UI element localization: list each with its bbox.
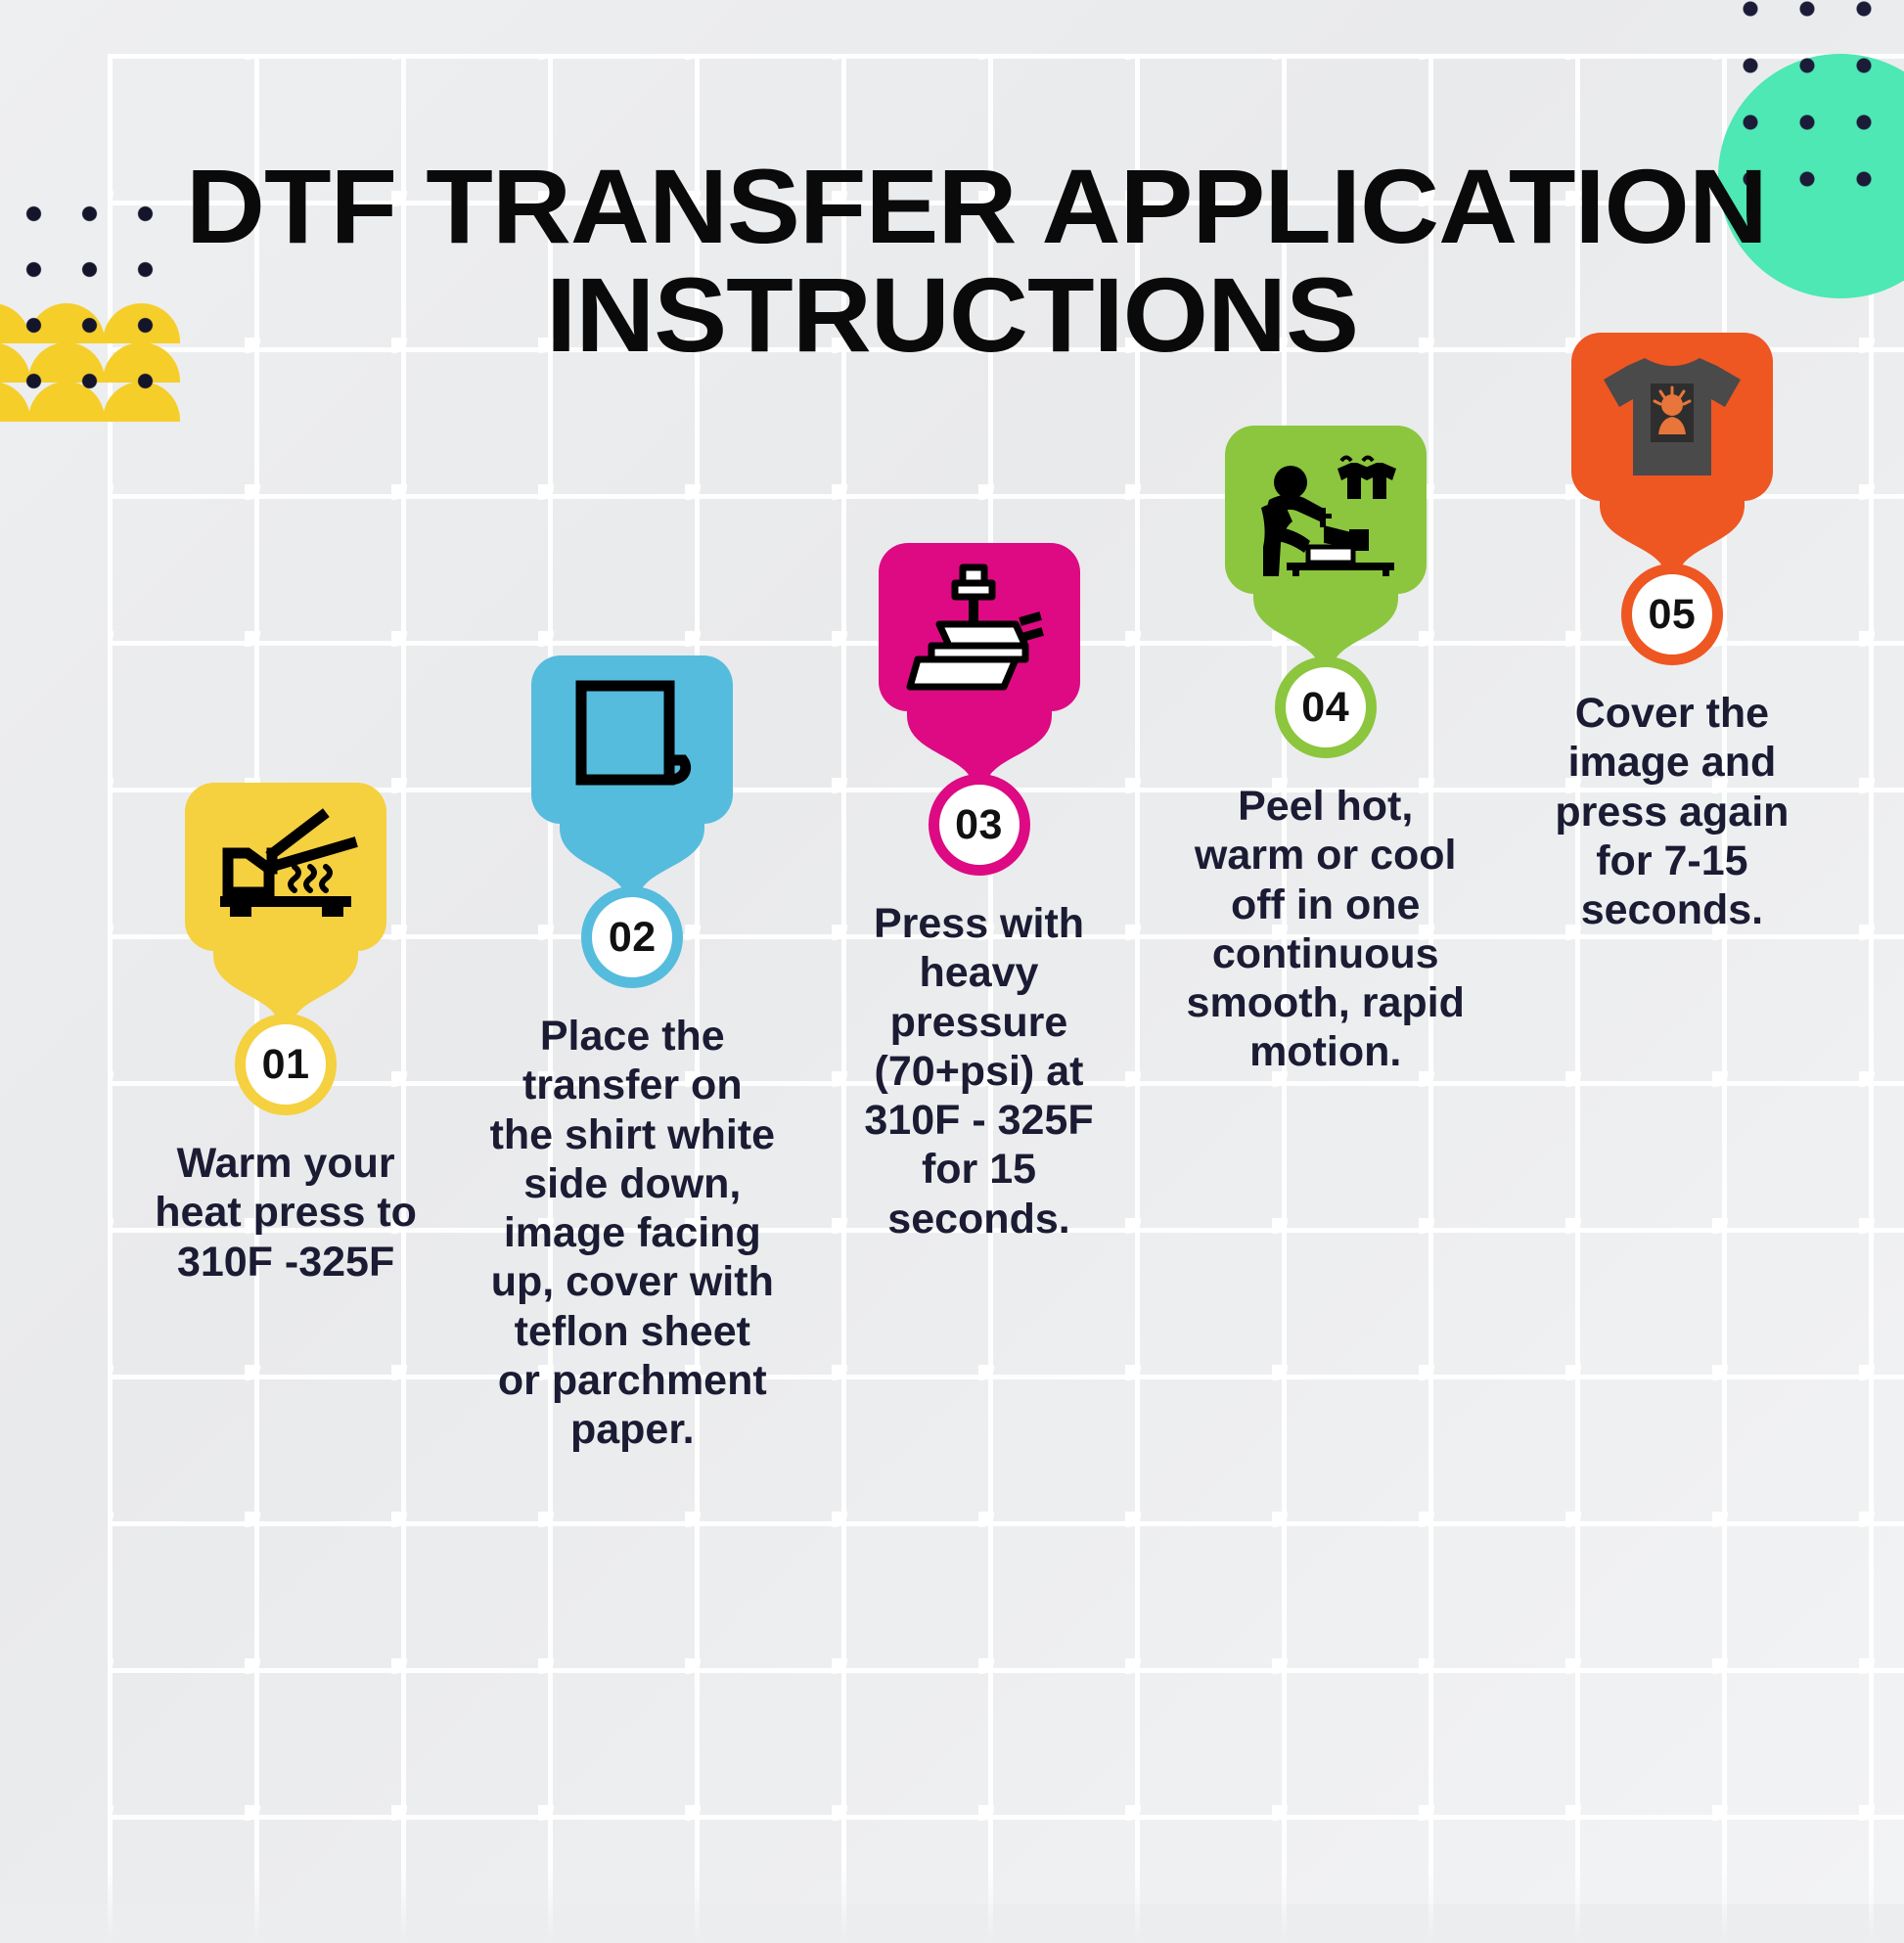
page-title: DTF TRANSFER APPLICATION INSTRUCTIONS <box>0 152 1904 369</box>
steps-container: 01 Warm your heat press to 310F -325F 02 <box>113 333 1845 1800</box>
step-icon-card-01 <box>185 783 386 951</box>
step-icon-card-03 <box>879 543 1080 711</box>
step-description-03: Press with heavy pressure (70+psi) at 31… <box>833 899 1126 1243</box>
step-number-badge-04: 04 <box>1275 656 1377 758</box>
step-icon-card-02 <box>531 655 733 824</box>
step-item-05: 05 Cover the image and press again for 7… <box>1499 333 1845 934</box>
step-number-01: 01 <box>262 1041 310 1089</box>
step-number-04: 04 <box>1301 684 1349 732</box>
step-icon-card-04 <box>1225 426 1427 594</box>
step-description-05: Cover the image and press again for 7-15… <box>1525 689 1819 934</box>
step-number-badge-05: 05 <box>1621 564 1723 665</box>
step-number-03: 03 <box>955 801 1003 849</box>
peel-transfer-icon <box>1247 443 1404 576</box>
step-number-badge-02: 02 <box>581 886 683 988</box>
step-item-01: 01 Warm your heat press to 310F -325F <box>113 333 459 1287</box>
heat-press-icon <box>212 808 359 926</box>
step-number-badge-03: 03 <box>929 774 1030 876</box>
step-description-04: Peel hot, warm or cool off in one contin… <box>1179 782 1473 1077</box>
page-title-line-1: DTF TRANSFER APPLICATION <box>186 152 1718 260</box>
transfer-sheet-icon <box>567 678 697 801</box>
step-item-03: 03 Press with heavy pressure (70+psi) at… <box>805 333 1152 1243</box>
step-description-01: Warm your heat press to 310F -325F <box>139 1139 432 1287</box>
page-title-line-2: INSTRUCTIONS <box>186 260 1718 369</box>
step-number-05: 05 <box>1648 591 1696 639</box>
step-number-badge-01: 01 <box>235 1014 337 1115</box>
step-item-02: 02 Place the transfer on the shirt white… <box>459 333 805 1455</box>
step-description-02: Place the transfer on the shirt white si… <box>485 1012 779 1455</box>
press-pressure-icon <box>906 564 1053 691</box>
step-number-02: 02 <box>609 914 657 962</box>
step-item-04: 04 Peel hot, warm or cool off in one con… <box>1153 333 1499 1077</box>
